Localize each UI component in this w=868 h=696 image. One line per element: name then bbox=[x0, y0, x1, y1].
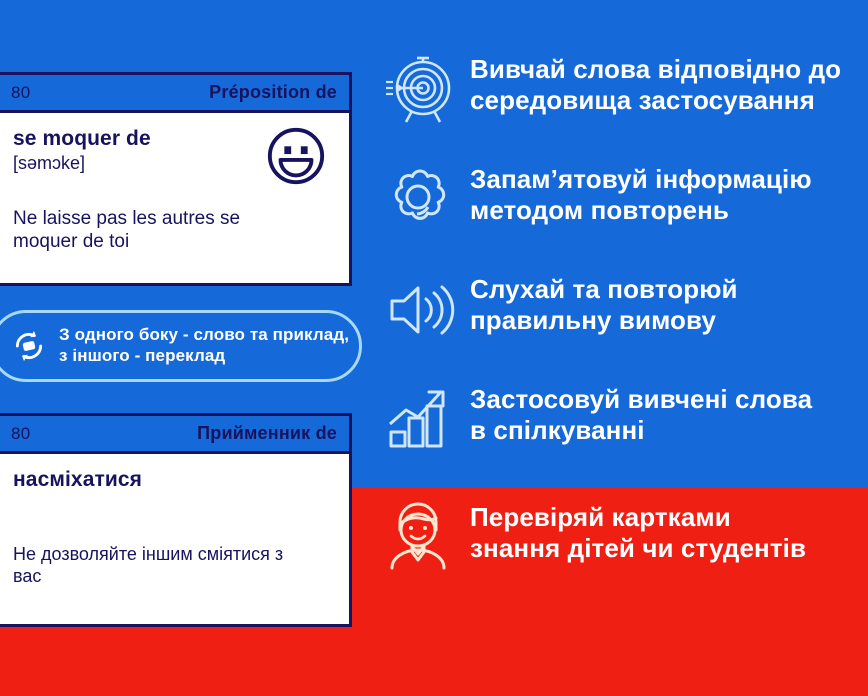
target-dartboard-icon bbox=[384, 54, 456, 126]
flashcard-body: se moquer de [səmɔke] Ne laisse pas les … bbox=[0, 113, 349, 283]
flashcard-category: Прийменник de bbox=[197, 423, 337, 444]
feature-text: Перевіряй картками знання дітей чи студе… bbox=[470, 488, 806, 563]
feature-item-repetition: Запам’ятовуй інформацію методом повторен… bbox=[384, 158, 868, 268]
feature-text: Вивчай слова відповідно до середовища за… bbox=[470, 48, 841, 115]
flashcard-back-ukrainian[interactable]: 80 Прийменник de насміхатися Не дозволяй… bbox=[0, 413, 352, 627]
feature-text: Слухай та повторюй правильну вимову bbox=[470, 268, 738, 335]
flashcard-category: Préposition de bbox=[209, 82, 337, 103]
feature-item-pronunciation: Слухай та повторюй правильну вимову bbox=[384, 268, 868, 378]
feature-item-test-students: Перевіряй картками знання дітей чи студе… bbox=[384, 488, 868, 608]
feature-text: Запам’ятовуй інформацію методом повторен… bbox=[470, 158, 812, 225]
gear-icon bbox=[384, 164, 456, 236]
flashcard-word: насміхатися bbox=[13, 468, 333, 492]
flashcards-column: 80 Préposition de se moquer de [səmɔke] … bbox=[0, 0, 358, 696]
flashcard-body: насміхатися Не дозволяйте іншим сміятися… bbox=[0, 454, 349, 624]
refresh-card-icon bbox=[9, 326, 49, 366]
flip-card-hint-pill: З одного боку - слово та приклад, з іншо… bbox=[0, 310, 362, 382]
flashcard-number: 80 bbox=[11, 83, 31, 103]
feature-item-apply-in-speech: Застосовуй вивчені слова в спілкуванні bbox=[384, 378, 868, 488]
flashcard-header: 80 Préposition de bbox=[0, 75, 349, 113]
flashcard-header: 80 Прийменник de bbox=[0, 416, 349, 454]
teacher-person-icon bbox=[384, 500, 456, 572]
bar-chart-growth-icon bbox=[384, 384, 456, 456]
feature-list: Вивчай слова відповідно до середовища за… bbox=[384, 48, 868, 608]
flashcard-example: Ne laisse pas les autres se moquer de to… bbox=[13, 207, 293, 253]
feature-item-learn-in-context: Вивчай слова відповідно до середовища за… bbox=[384, 48, 868, 158]
flashcard-example: Не дозволяйте іншим сміятися з вас bbox=[13, 544, 293, 588]
flashcard-promo-poster: 80 Préposition de se moquer de [səmɔke] … bbox=[0, 0, 868, 696]
speaker-sound-icon bbox=[384, 274, 456, 346]
feature-text: Застосовуй вивчені слова в спілкуванні bbox=[470, 378, 812, 445]
smiley-face-icon bbox=[265, 125, 327, 187]
flip-card-hint-text: З одного боку - слово та приклад, з іншо… bbox=[59, 325, 359, 366]
flashcard-front-french[interactable]: 80 Préposition de se moquer de [səmɔke] … bbox=[0, 72, 352, 286]
flashcard-number: 80 bbox=[11, 424, 31, 444]
